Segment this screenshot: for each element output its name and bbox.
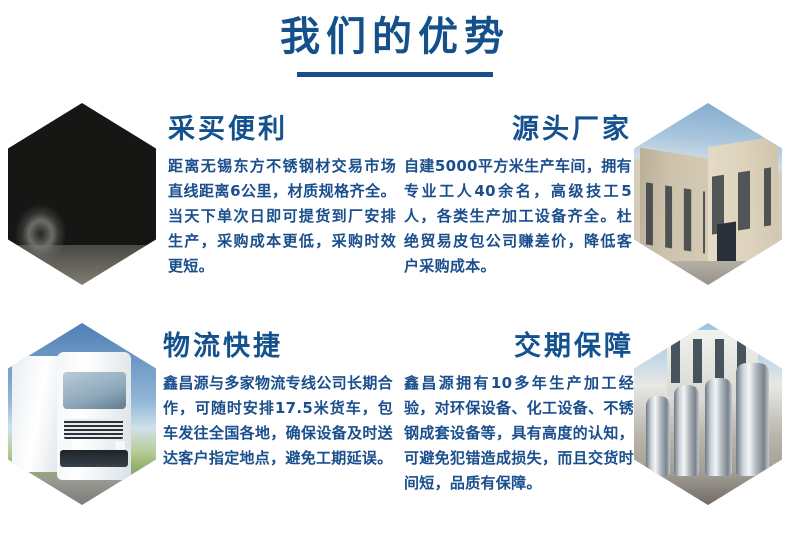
page-title: 我们的优势 [0,14,790,60]
advantage-body-factory: 自建5000平方米生产车间，拥有专业工人40余名，高级技工5人，各类生产加工设备… [404,154,632,279]
advantage-heading-logistics: 物流快捷 [163,332,393,362]
advantage-block-factory: 源头厂家 自建5000平方米生产车间，拥有专业工人40余名，高级技工5人，各类生… [404,115,632,279]
truck-grille [64,419,123,439]
truck-headlight-right [115,441,125,450]
stainless-tanks-image [634,323,782,505]
advantage-block-logistics: 物流快捷 鑫昌源与多家物流专线公司长期合作，可随时安排17.5米货车，包车发往全… [163,332,393,471]
tank-vessel-1 [646,396,670,476]
advantages-page: 我们的优势 采买便利 距离无锡东方不锈钢材交易市场直线距离6公里，材质规格齐全。… [0,0,790,548]
tank-vessel-4 [736,363,769,476]
tanks-ground [634,472,782,505]
advantage-heading-leadtime: 交期保障 [404,332,634,362]
truck-headlight-left [61,441,71,450]
factory-building-photo [634,103,782,285]
tank-vessel-3 [705,378,732,476]
factory-ground [634,261,782,285]
steel-coils-image [8,103,156,285]
factory-entrance-door [717,222,736,265]
factory-left-windows [646,182,705,253]
advantage-block-purchase: 采买便利 距离无锡东方不锈钢材交易市场直线距离6公里，材质规格齐全。当天下单次日… [168,115,396,279]
advantage-heading-factory: 源头厂家 [404,115,632,145]
truck-windshield [63,372,127,408]
advantage-body-leadtime: 鑫昌源拥有10多年生产加工经验，对环保设备、化工设备、不锈钢成套设备等，具有高度… [404,371,634,496]
page-title-block: 我们的优势 [0,14,790,77]
advantage-heading-purchase: 采买便利 [168,115,396,145]
truck-bumper [60,450,128,466]
title-underline-rule [297,72,493,77]
advantage-body-purchase: 距离无锡东方不锈钢材交易市场直线距离6公里，材质规格齐全。当天下单次日即可提货到… [168,154,396,279]
stainless-tanks-photo [634,323,782,505]
factory-building-image [634,103,782,285]
advantage-body-logistics: 鑫昌源与多家物流专线公司长期合作，可随时安排17.5米货车，包车发往全国各地，确… [163,371,393,471]
steel-coils-photo [8,103,156,285]
delivery-truck-image [8,323,156,505]
advantage-block-leadtime: 交期保障 鑫昌源拥有10多年生产加工经验，对环保设备、化工设备、不锈钢成套设备等… [404,332,634,496]
delivery-truck-photo [8,323,156,505]
tank-vessel-2 [674,385,699,476]
